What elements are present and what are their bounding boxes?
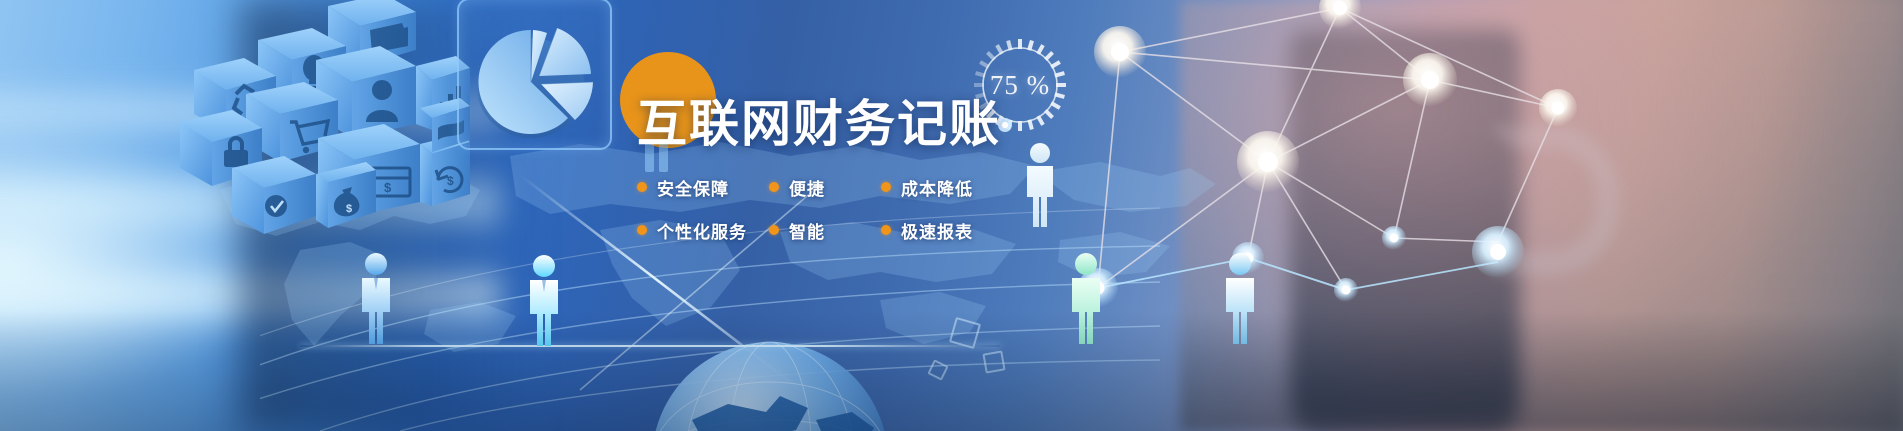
feature-item-cost-reduction: 成本降低	[881, 175, 973, 200]
feature-item-intelligent: 智能	[769, 218, 881, 243]
feature-label: 个性化服务	[657, 218, 747, 243]
feature-item-fast-reports: 极速报表	[881, 218, 973, 243]
feature-label: 智能	[789, 218, 825, 243]
feature-row: 个性化服务 智能 极速报表	[637, 218, 1107, 243]
feature-row: 安全保障 便捷 成本降低	[637, 175, 1107, 200]
page-title: 互联网财务记账	[637, 98, 1107, 151]
svg-text:$: $	[346, 203, 352, 215]
svg-text:$: $	[384, 180, 392, 195]
bullet-dot-icon	[881, 225, 891, 235]
feature-label: 安全保障	[657, 175, 729, 200]
feature-item-personalized-service: 个性化服务	[637, 218, 769, 243]
bullet-dot-icon	[637, 225, 647, 235]
bullet-dot-icon	[769, 182, 779, 192]
pie-chart-panel	[457, 0, 612, 150]
banner-root: $ $	[0, 0, 1903, 431]
business-icon-cube: $ $	[170, 0, 470, 250]
feature-label: 成本降低	[901, 175, 973, 200]
feature-label: 便捷	[789, 175, 825, 200]
bullet-dot-icon	[769, 225, 779, 235]
feature-list: 安全保障 便捷 成本降低 个性化服务 智能	[637, 175, 1107, 243]
feature-item-security: 安全保障	[637, 175, 769, 200]
feature-item-convenient: 便捷	[769, 175, 881, 200]
bottom-shade	[0, 311, 1903, 431]
bullet-dot-icon	[637, 182, 647, 192]
feature-label: 极速报表	[901, 218, 973, 243]
bullet-dot-icon	[881, 182, 891, 192]
svg-text:$: $	[447, 174, 454, 188]
network-node-graph	[1050, 0, 1610, 320]
banner-content: 互联网财务记账 安全保障 便捷 成本降低 个性化服	[637, 98, 1107, 243]
